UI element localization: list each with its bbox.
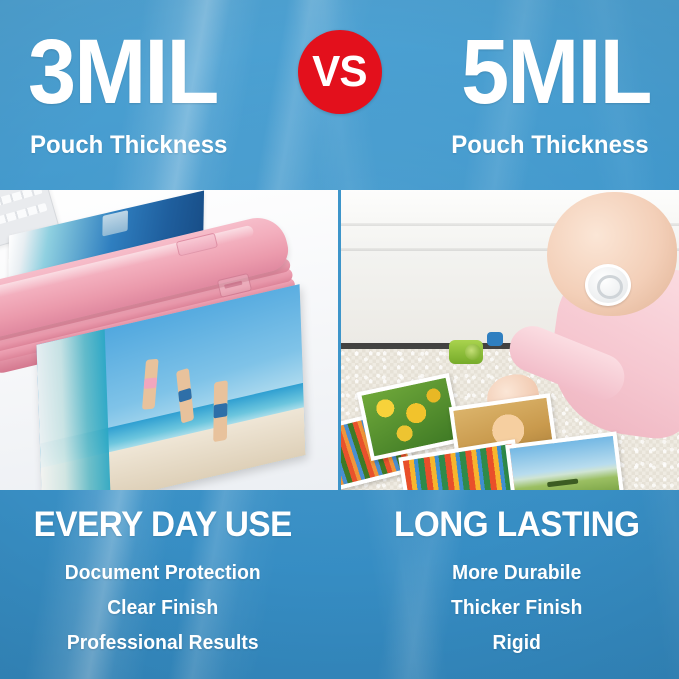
beach-figure-2-swimsuit — [178, 388, 192, 403]
header-subtitles-row: Pouch Thickness Pouch Thickness — [0, 130, 679, 160]
footer-right-benefit-item: Thicker Finish — [360, 591, 672, 626]
vs-badge-label: VS — [312, 50, 366, 94]
footer-left-benefit-item: Clear Finish — [7, 591, 319, 626]
photo-comparison-strip — [0, 190, 679, 490]
pacifier-icon — [585, 264, 631, 306]
right-thickness-subtitle: Pouch Thickness — [452, 130, 649, 160]
header-section: 3MIL VS 5MIL Pouch Thickness Pouch Thick… — [0, 0, 679, 190]
footer-column-left: EVERY DAY USE Document Protection Clear … — [0, 504, 340, 661]
footer-column-right: LONG LASTING More Durabile Thicker Finis… — [340, 504, 679, 661]
left-thickness-subtitle: Pouch Thickness — [30, 130, 227, 160]
footer-right-benefit-item: Rigid — [360, 626, 672, 661]
beach-left-edge — [36, 329, 110, 490]
right-product-photo — [341, 190, 679, 490]
comparison-infographic: 3MIL VS 5MIL Pouch Thickness Pouch Thick… — [0, 0, 679, 679]
left-product-photo — [0, 190, 338, 490]
header-values-row: 3MIL VS 5MIL — [0, 24, 679, 120]
footer-left-benefit-item: Professional Results — [7, 626, 319, 661]
beach-figure-3-swimsuit — [214, 403, 228, 419]
footer-left-title: EVERY DAY USE — [8, 504, 317, 546]
footer-columns: EVERY DAY USE Document Protection Clear … — [0, 504, 679, 661]
beach-figure-1-swimsuit — [144, 378, 157, 389]
footer-right-title: LONG LASTING — [362, 504, 671, 546]
blue-toy — [487, 332, 503, 346]
vs-badge: VS — [298, 30, 382, 114]
footer-left-benefit-list: Document Protection Clear Finish Profess… — [0, 556, 326, 661]
right-thickness-value: 5MIL — [462, 24, 651, 120]
green-toy — [449, 340, 483, 364]
left-thickness-value: 3MIL — [28, 24, 217, 120]
beach-figure-3 — [213, 380, 228, 442]
footer-right-benefit-list: More Durabile Thicker Finish Rigid — [354, 556, 679, 661]
footer-left-benefit-item: Document Protection — [7, 556, 319, 591]
footer-section: EVERY DAY USE Document Protection Clear … — [0, 490, 679, 679]
footer-right-benefit-item: More Durabile — [360, 556, 672, 591]
